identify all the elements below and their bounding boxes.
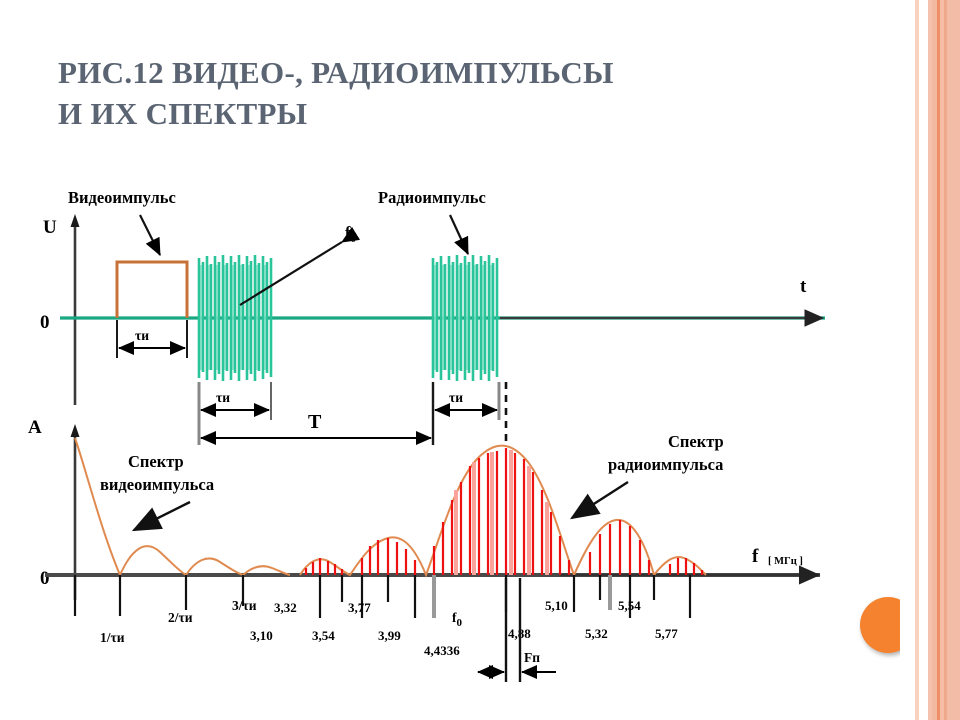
- radio-spectrum-label-line2: радиоимпульса: [608, 455, 723, 474]
- tick-label-5-10: 5,10: [545, 598, 568, 613]
- period-marker-T: T: [199, 411, 433, 445]
- tau-label-3: τи: [449, 390, 463, 405]
- carrier-value-label: 4,4336: [424, 643, 460, 658]
- tau-label-2: τи: [216, 390, 230, 405]
- repetition-freq-label: Fп: [524, 650, 540, 665]
- video-spectrum-label-line2: видеоимпульса: [100, 475, 214, 494]
- video-spectrum-ticks: [75, 575, 243, 616]
- tick-label-3-77: 3,77: [348, 600, 371, 615]
- slide-canvas: РИС.12 ВИДЕО-, РАДИОИМПУЛЬСЫ И ИХ СПЕКТР…: [0, 0, 960, 720]
- figure-diagram: U 0 t: [0, 170, 900, 690]
- radio-pulse-label: Радиоимпульс: [378, 188, 486, 207]
- tau-label-1: τи: [135, 328, 149, 343]
- tick-label-3-32: 3,32: [274, 600, 297, 615]
- tick-label-5-54: 5,54: [618, 598, 641, 613]
- axis-label-t: t: [800, 276, 807, 297]
- video-spectrum-label-line1: Спектр: [128, 452, 184, 471]
- carrier-freq-label-top: f0: [345, 223, 357, 245]
- tau-marker-3: τи: [433, 382, 499, 420]
- carrier-marker-label: f0: [452, 610, 463, 629]
- accent-circle: [860, 597, 900, 653]
- tick-label-1-tau: 1/τи: [100, 630, 125, 645]
- video-pulse-label: Видеоимпульс: [68, 188, 176, 207]
- origin-label-top: 0: [40, 312, 50, 333]
- page-title-line1: РИС.12 ВИДЕО-, РАДИОИМПУЛЬСЫ: [58, 52, 758, 93]
- tick-label-3-10: 3,10: [250, 628, 273, 643]
- tick-label-2-tau: 2/τи: [168, 610, 193, 625]
- page-title-line2: И ИХ СПЕКТРЫ: [58, 93, 758, 134]
- origin-label-bottom: 0: [40, 568, 50, 589]
- tick-label-3-tau: 3/τи: [232, 598, 257, 613]
- radio-spectrum-label-line1: Спектр: [668, 432, 724, 451]
- axis-label-a: A: [28, 417, 42, 438]
- period-label-T: T: [308, 411, 322, 433]
- tick-label-3-54: 3,54: [312, 628, 335, 643]
- page-title: РИС.12 ВИДЕО-, РАДИОИМПУЛЬСЫ И ИХ СПЕКТР…: [58, 52, 758, 134]
- tau-marker-2: τи: [199, 382, 271, 420]
- axis-label-f: f: [752, 546, 759, 567]
- tick-label-5-77: 5,77: [655, 626, 678, 641]
- border-stripe-1: [915, 0, 919, 720]
- border-stripe-7: [947, 0, 960, 720]
- axis-unit-f: [ МГц ]: [768, 556, 803, 567]
- axis-label-u: U: [43, 217, 57, 238]
- tau-marker-1: τи: [117, 320, 187, 358]
- tick-label-3-99: 3,99: [378, 628, 401, 643]
- tick-label-5-32: 5,32: [585, 626, 608, 641]
